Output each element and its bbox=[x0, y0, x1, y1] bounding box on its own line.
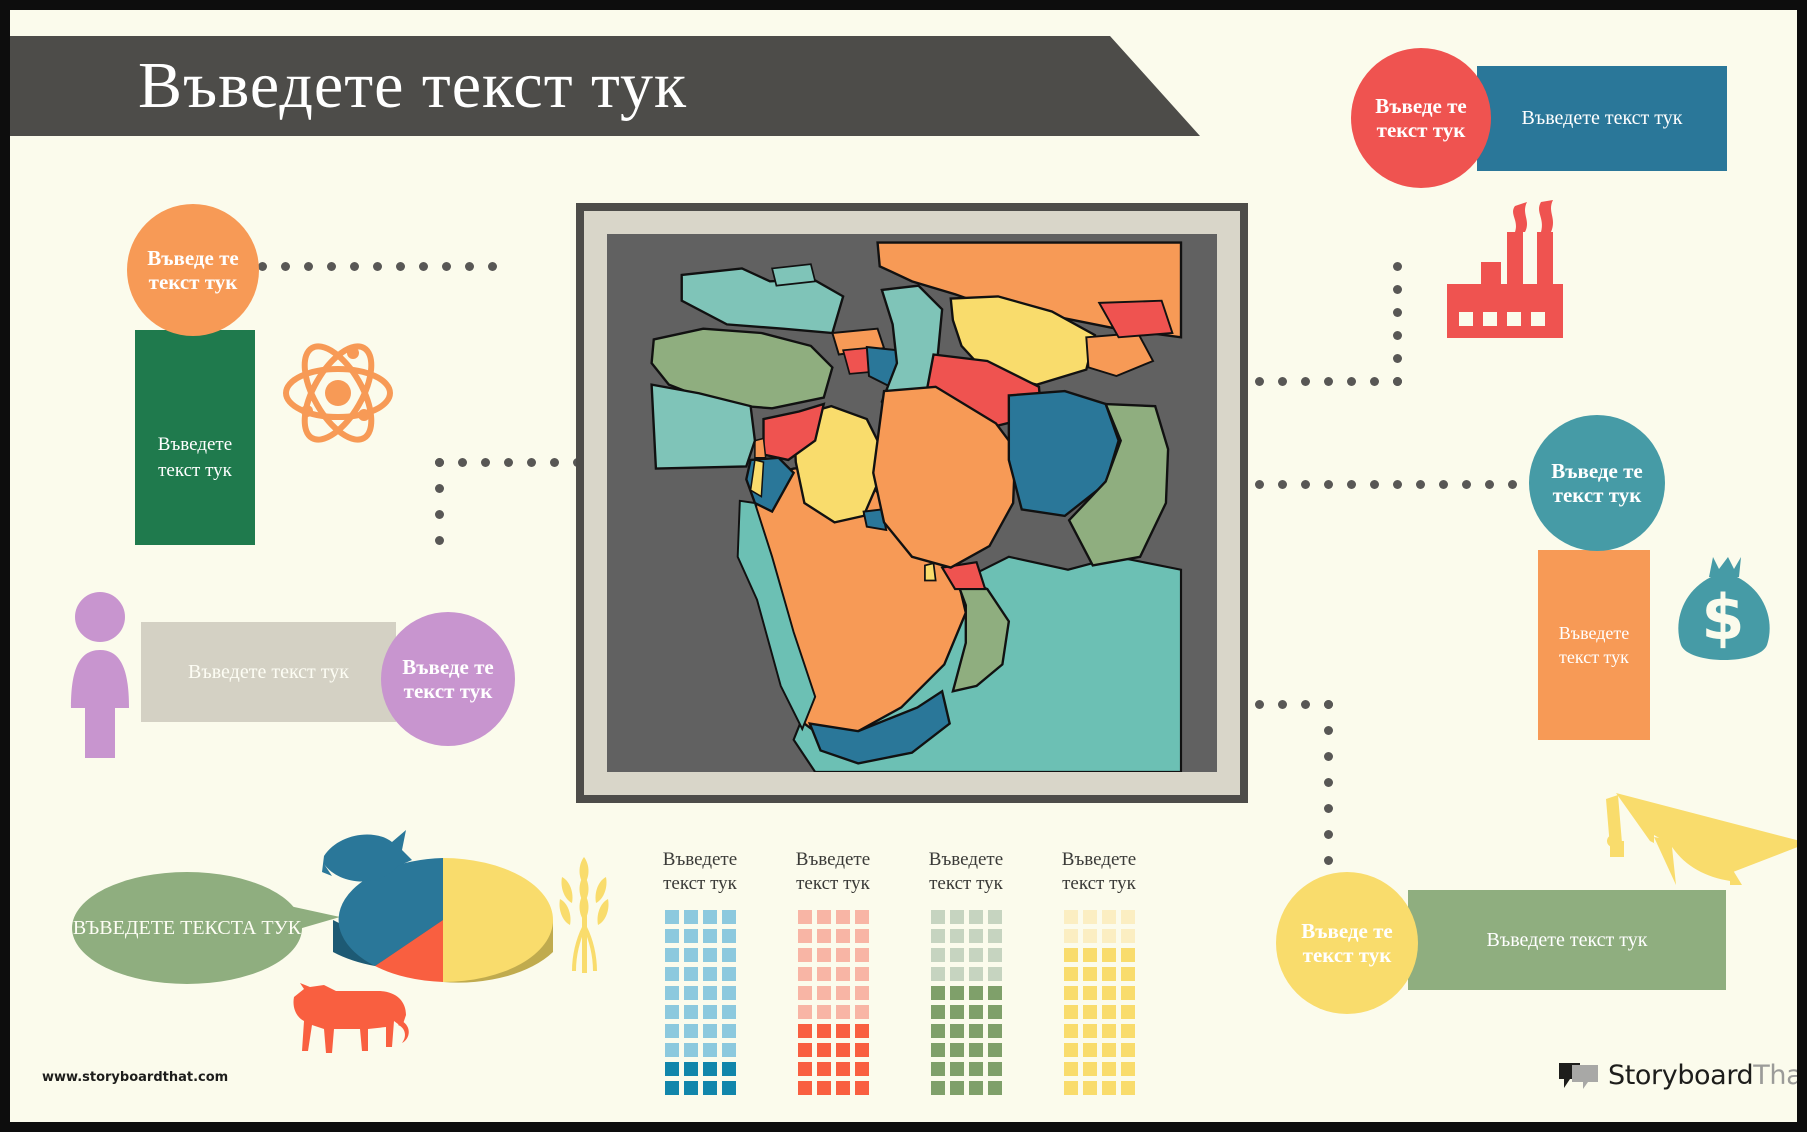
waffle-cell bbox=[684, 1005, 698, 1019]
waffle-cell bbox=[969, 1024, 983, 1038]
logo-text: StoryboardThat bbox=[1608, 1060, 1797, 1091]
waffle-cell bbox=[836, 1024, 850, 1038]
waffle-cell bbox=[665, 1081, 679, 1095]
connector-right-top bbox=[1255, 262, 1415, 412]
page-title: Въведете текст тук bbox=[10, 48, 687, 124]
waffle-cell bbox=[1121, 1062, 1135, 1076]
waffle-cell bbox=[703, 910, 717, 924]
callout-circle-teal[interactable]: Въведе те текст тук bbox=[1529, 415, 1665, 551]
connector-dot bbox=[1278, 700, 1287, 709]
callout-panel-label: Въведете текст тук bbox=[1487, 929, 1648, 952]
callout-circle-orange[interactable]: Въведе те текст тук bbox=[127, 204, 259, 336]
callout-panel-label: Въведете текст тук bbox=[135, 432, 255, 483]
waffle-cell bbox=[1121, 910, 1135, 924]
waffle-cell bbox=[988, 1081, 1002, 1095]
waffle-cell bbox=[722, 948, 736, 962]
waffle-cell bbox=[931, 910, 945, 924]
callout-circle-red[interactable]: Въведе те текст тук bbox=[1351, 48, 1491, 188]
callout-circle-label: Въведе те текст тук bbox=[1276, 919, 1418, 968]
waffle-cell bbox=[798, 986, 812, 1000]
connector-dot bbox=[1370, 480, 1379, 489]
connector-left-top bbox=[258, 262, 508, 274]
atom-icon bbox=[278, 333, 398, 453]
callout-panel-label: Въведете текст тук bbox=[1538, 621, 1650, 670]
waffle-cell bbox=[1064, 1024, 1078, 1038]
waffle-cell bbox=[1083, 1043, 1097, 1057]
waffle-cell bbox=[836, 929, 850, 943]
waffle-cell bbox=[665, 910, 679, 924]
connector-dot bbox=[1324, 480, 1333, 489]
waffle-cell bbox=[665, 967, 679, 981]
waffle-cell bbox=[703, 1005, 717, 1019]
waffle-cell bbox=[798, 929, 812, 943]
connector-dot bbox=[281, 262, 290, 271]
waffle-cell bbox=[703, 1081, 717, 1095]
waffle-cell bbox=[1064, 1081, 1078, 1095]
waffle-cell bbox=[798, 1024, 812, 1038]
connector-dot bbox=[1393, 331, 1402, 340]
connector-dot bbox=[481, 458, 490, 467]
speech-bubble-label: ВЪВЕДЕТЕ ТЕКСТА ТУК bbox=[73, 915, 301, 941]
connector-dot bbox=[1301, 700, 1310, 709]
waffle-cell bbox=[931, 929, 945, 943]
connector-dot bbox=[1439, 480, 1448, 489]
waffle-cell bbox=[1083, 1062, 1097, 1076]
connector-left-mid bbox=[435, 458, 585, 608]
waffle-cell bbox=[1102, 967, 1116, 981]
waffle-cell bbox=[1083, 1024, 1097, 1038]
connector-dot bbox=[373, 262, 382, 271]
middle-east-map[interactable] bbox=[607, 234, 1217, 772]
waffle-cell bbox=[855, 948, 869, 962]
waffle-cell bbox=[950, 967, 964, 981]
waffle-cell bbox=[684, 1081, 698, 1095]
waffle-cell bbox=[931, 986, 945, 1000]
connector-dot bbox=[1416, 480, 1425, 489]
waffle-cell bbox=[855, 1062, 869, 1076]
waffle-cell bbox=[988, 910, 1002, 924]
waffle-cell bbox=[665, 1005, 679, 1019]
connector-dot bbox=[1301, 377, 1310, 386]
waffle-cell bbox=[722, 986, 736, 1000]
waffle-cell bbox=[665, 1043, 679, 1057]
connector-dot bbox=[442, 262, 451, 271]
waffle-cell bbox=[1121, 967, 1135, 981]
waffle-cell bbox=[950, 929, 964, 943]
connector-dot bbox=[1324, 377, 1333, 386]
waffle-cell bbox=[836, 1043, 850, 1057]
connector-dot bbox=[419, 262, 428, 271]
callout-circle-yellow[interactable]: Въведе те текст тук bbox=[1276, 872, 1418, 1014]
connector-right-mid bbox=[1255, 480, 1545, 492]
waffle-cell bbox=[1102, 1005, 1116, 1019]
waffle-cell bbox=[722, 967, 736, 981]
waffle-column[interactable]: Въведете текст тук bbox=[656, 848, 744, 1118]
waffle-cell bbox=[722, 1081, 736, 1095]
waffle-cell bbox=[684, 910, 698, 924]
waffle-grid[interactable] bbox=[789, 910, 877, 1095]
waffle-cell bbox=[931, 1005, 945, 1019]
waffle-cell bbox=[798, 948, 812, 962]
waffle-title: Въведете текст тук bbox=[789, 848, 877, 896]
waffle-cell bbox=[817, 948, 831, 962]
waffle-cell bbox=[969, 1081, 983, 1095]
waffle-cell bbox=[817, 1005, 831, 1019]
waffle-cell bbox=[836, 1062, 850, 1076]
connector-dot bbox=[1485, 480, 1494, 489]
waffle-cell bbox=[1064, 910, 1078, 924]
waffle-cell bbox=[931, 1024, 945, 1038]
waffle-cell bbox=[703, 948, 717, 962]
waffle-cell bbox=[684, 948, 698, 962]
waffle-cell bbox=[703, 967, 717, 981]
waffle-cell bbox=[950, 1062, 964, 1076]
waffle-cell bbox=[798, 1081, 812, 1095]
waffle-cell bbox=[855, 1081, 869, 1095]
waffle-cell bbox=[722, 929, 736, 943]
waffle-cell bbox=[1064, 986, 1078, 1000]
connector-dot bbox=[1324, 804, 1333, 813]
waffle-cell bbox=[1083, 1005, 1097, 1019]
waffle-cell bbox=[969, 1005, 983, 1019]
waffle-cell bbox=[969, 986, 983, 1000]
waffle-cell bbox=[969, 1062, 983, 1076]
waffle-cell bbox=[931, 948, 945, 962]
waffle-cell bbox=[1102, 1062, 1116, 1076]
waffle-column[interactable]: Въведете текст тук bbox=[922, 848, 1010, 1118]
money-bag-icon: $ bbox=[1671, 555, 1776, 670]
callout-circle-label: Въведе те текст тук bbox=[1351, 94, 1491, 143]
connector-dot bbox=[1462, 480, 1471, 489]
map-mat bbox=[584, 211, 1240, 795]
connector-dot bbox=[1347, 377, 1356, 386]
waffle-grid[interactable] bbox=[1055, 910, 1143, 1095]
waffle-cell bbox=[855, 929, 869, 943]
waffle-cell bbox=[988, 929, 1002, 943]
waffle-cell bbox=[950, 1081, 964, 1095]
wheat-icon bbox=[550, 855, 620, 975]
waffle-cell bbox=[703, 929, 717, 943]
waffle-cell bbox=[703, 1024, 717, 1038]
waffle-cell bbox=[817, 1024, 831, 1038]
waffle-cell bbox=[988, 986, 1002, 1000]
waffle-cell bbox=[836, 1005, 850, 1019]
waffle-cell bbox=[931, 967, 945, 981]
waffle-cell bbox=[855, 986, 869, 1000]
waffle-cell bbox=[836, 967, 850, 981]
connector-dot bbox=[1255, 480, 1264, 489]
waffle-cell bbox=[1102, 910, 1116, 924]
waffle-cell bbox=[665, 948, 679, 962]
waffle-cell bbox=[988, 1062, 1002, 1076]
waffle-cell bbox=[988, 1043, 1002, 1057]
speech-bubbles-icon bbox=[1558, 1061, 1600, 1091]
callout-circle-label: Въведе те текст тук bbox=[1529, 459, 1665, 508]
callout-panel-gray[interactable]: Въведете текст тук bbox=[141, 622, 396, 722]
waffle-column[interactable]: Въведете текст тук bbox=[789, 848, 877, 1118]
connector-dot bbox=[1393, 480, 1402, 489]
waffle-cell bbox=[855, 1005, 869, 1019]
waffle-chart-group: Въведете текст тук Въведете текст тук Въ… bbox=[656, 848, 1176, 1118]
waffle-cell bbox=[1064, 967, 1078, 981]
waffle-cell bbox=[798, 1043, 812, 1057]
connector-dot bbox=[1324, 856, 1333, 865]
connector-dot bbox=[1324, 726, 1333, 735]
callout-panel-label: Въведете текст тук bbox=[1522, 107, 1683, 130]
waffle-cell bbox=[1064, 1005, 1078, 1019]
waffle-grid[interactable] bbox=[922, 910, 1010, 1095]
waffle-cell bbox=[988, 1005, 1002, 1019]
footer-url[interactable]: www.storyboardthat.com bbox=[42, 1070, 228, 1085]
connector-dot bbox=[1347, 480, 1356, 489]
waffle-cell bbox=[969, 929, 983, 943]
connector-dot bbox=[1255, 700, 1264, 709]
waffle-cell bbox=[1102, 1081, 1116, 1095]
waffle-cell bbox=[855, 910, 869, 924]
waffle-cell bbox=[988, 1024, 1002, 1038]
waffle-cell bbox=[969, 1043, 983, 1057]
waffle-cell bbox=[722, 1043, 736, 1057]
waffle-cell bbox=[1064, 1043, 1078, 1057]
callout-panel-label: Въведете текст тук bbox=[188, 661, 349, 684]
waffle-cell bbox=[684, 986, 698, 1000]
waffle-grid[interactable] bbox=[656, 910, 744, 1095]
waffle-cell bbox=[950, 1005, 964, 1019]
waffle-cell bbox=[855, 1043, 869, 1057]
fish-icon bbox=[318, 828, 413, 893]
waffle-cell bbox=[817, 967, 831, 981]
cow-icon bbox=[290, 975, 410, 1055]
connector-dot bbox=[1393, 377, 1402, 386]
waffle-cell bbox=[1083, 967, 1097, 981]
waffle-cell bbox=[1102, 986, 1116, 1000]
waffle-cell bbox=[950, 948, 964, 962]
logo-primary: Storyboard bbox=[1608, 1060, 1753, 1091]
factory-icon bbox=[1445, 200, 1565, 340]
callout-circle-purple[interactable]: Въведе те текст тук bbox=[381, 612, 515, 746]
connector-dot bbox=[527, 458, 536, 467]
connector-dot bbox=[1370, 377, 1379, 386]
person-icon bbox=[65, 590, 135, 760]
waffle-cell bbox=[969, 948, 983, 962]
waffle-cell bbox=[703, 1043, 717, 1057]
waffle-cell bbox=[988, 948, 1002, 962]
waffle-cell bbox=[931, 1081, 945, 1095]
waffle-cell bbox=[684, 1062, 698, 1076]
waffle-cell bbox=[665, 986, 679, 1000]
waffle-cell bbox=[817, 910, 831, 924]
connector-dot bbox=[1393, 262, 1402, 271]
waffle-cell bbox=[950, 1043, 964, 1057]
waffle-cell bbox=[1121, 948, 1135, 962]
callout-panel-orange[interactable]: Въведете текст тук bbox=[1538, 550, 1650, 740]
storyboardthat-logo[interactable]: StoryboardThat bbox=[1558, 1060, 1797, 1091]
waffle-cell bbox=[665, 929, 679, 943]
waffle-cell bbox=[665, 1062, 679, 1076]
waffle-cell bbox=[817, 929, 831, 943]
waffle-cell bbox=[855, 967, 869, 981]
waffle-cell bbox=[817, 1081, 831, 1095]
connector-dot bbox=[1393, 285, 1402, 294]
connector-dot bbox=[258, 262, 267, 271]
waffle-cell bbox=[798, 967, 812, 981]
waffle-cell bbox=[969, 910, 983, 924]
waffle-cell bbox=[817, 1043, 831, 1057]
waffle-cell bbox=[836, 986, 850, 1000]
connector-dot bbox=[465, 262, 474, 271]
connector-dot bbox=[1324, 778, 1333, 787]
waffle-title: Въведете текст тук bbox=[1055, 848, 1143, 896]
connector-dot bbox=[396, 262, 405, 271]
waffle-cell bbox=[931, 1062, 945, 1076]
connector-dot bbox=[435, 536, 444, 545]
callout-panel-left-green[interactable]: Въведете текст тук bbox=[135, 330, 255, 545]
waffle-cell bbox=[836, 1081, 850, 1095]
waffle-cell bbox=[817, 1062, 831, 1076]
waffle-cell bbox=[931, 1043, 945, 1057]
waffle-cell bbox=[950, 910, 964, 924]
waffle-cell bbox=[798, 1062, 812, 1076]
connector-dot bbox=[488, 262, 497, 271]
waffle-cell bbox=[684, 1024, 698, 1038]
waffle-cell bbox=[684, 1043, 698, 1057]
waffle-column[interactable]: Въведете текст тук bbox=[1055, 848, 1143, 1118]
waffle-cell bbox=[836, 948, 850, 962]
waffle-cell bbox=[950, 986, 964, 1000]
logo-secondary: That bbox=[1753, 1060, 1797, 1091]
connector-dot bbox=[1255, 377, 1264, 386]
connector-dot bbox=[435, 510, 444, 519]
graduation-cap-icon bbox=[1580, 785, 1797, 890]
waffle-cell bbox=[1102, 948, 1116, 962]
connector-dot bbox=[435, 484, 444, 493]
connector-dot bbox=[350, 262, 359, 271]
connector-dot bbox=[1324, 700, 1333, 709]
connector-dot bbox=[458, 458, 467, 467]
waffle-cell bbox=[722, 1062, 736, 1076]
connector-dot bbox=[1393, 354, 1402, 363]
callout-panel-green[interactable]: Въведете текст тук bbox=[1408, 890, 1726, 990]
connector-dot bbox=[1393, 308, 1402, 317]
connector-dot bbox=[1278, 377, 1287, 386]
callout-panel-blue[interactable]: Въведете текст тук bbox=[1477, 66, 1727, 171]
waffle-cell bbox=[1121, 986, 1135, 1000]
connector-dot bbox=[327, 262, 336, 271]
waffle-cell bbox=[1083, 910, 1097, 924]
waffle-cell bbox=[1102, 929, 1116, 943]
waffle-cell bbox=[1083, 929, 1097, 943]
connector-dot bbox=[1324, 830, 1333, 839]
waffle-cell bbox=[703, 1062, 717, 1076]
waffle-cell bbox=[836, 910, 850, 924]
waffle-cell bbox=[1121, 1081, 1135, 1095]
connector-dot bbox=[1278, 480, 1287, 489]
waffle-cell bbox=[1102, 1024, 1116, 1038]
title-banner: Въведете текст тук bbox=[10, 36, 1200, 136]
waffle-cell bbox=[855, 1024, 869, 1038]
waffle-cell bbox=[684, 929, 698, 943]
waffle-cell bbox=[1083, 986, 1097, 1000]
connector-dot bbox=[435, 458, 444, 467]
waffle-cell bbox=[722, 1005, 736, 1019]
callout-circle-label: Въведе те текст тук bbox=[381, 655, 515, 704]
waffle-cell bbox=[1121, 1005, 1135, 1019]
waffle-cell bbox=[1083, 948, 1097, 962]
waffle-cell bbox=[1083, 1081, 1097, 1095]
waffle-cell bbox=[1064, 948, 1078, 962]
waffle-title: Въведете текст тук bbox=[922, 848, 1010, 896]
waffle-cell bbox=[798, 1005, 812, 1019]
waffle-cell bbox=[722, 910, 736, 924]
waffle-cell bbox=[1121, 1024, 1135, 1038]
waffle-cell bbox=[1121, 1043, 1135, 1057]
waffle-cell bbox=[988, 967, 1002, 981]
connector-dot bbox=[1324, 752, 1333, 761]
waffle-cell bbox=[684, 967, 698, 981]
waffle-cell bbox=[950, 1024, 964, 1038]
waffle-cell bbox=[722, 1024, 736, 1038]
connector-dot bbox=[550, 458, 559, 467]
waffle-title: Въведете текст тук bbox=[656, 848, 744, 896]
map-frame bbox=[576, 203, 1248, 803]
connector-dot bbox=[504, 458, 513, 467]
waffle-cell bbox=[798, 910, 812, 924]
waffle-cell bbox=[665, 1024, 679, 1038]
waffle-cell bbox=[1064, 1062, 1078, 1076]
connector-dot bbox=[304, 262, 313, 271]
callout-circle-label: Въведе те текст тук bbox=[127, 246, 259, 295]
waffle-cell bbox=[1121, 929, 1135, 943]
infographic-canvas: Въведете текст тук Въведете текст тук Въ… bbox=[10, 10, 1797, 1122]
speech-bubble[interactable]: ВЪВЕДЕТЕ ТЕКСТА ТУК bbox=[72, 872, 302, 984]
waffle-cell bbox=[1064, 929, 1078, 943]
waffle-cell bbox=[969, 967, 983, 981]
connector-dot bbox=[1301, 480, 1310, 489]
svg-text:$: $ bbox=[1701, 581, 1744, 654]
waffle-cell bbox=[703, 986, 717, 1000]
waffle-cell bbox=[817, 986, 831, 1000]
connector-dot bbox=[1508, 480, 1517, 489]
waffle-cell bbox=[1102, 1043, 1116, 1057]
